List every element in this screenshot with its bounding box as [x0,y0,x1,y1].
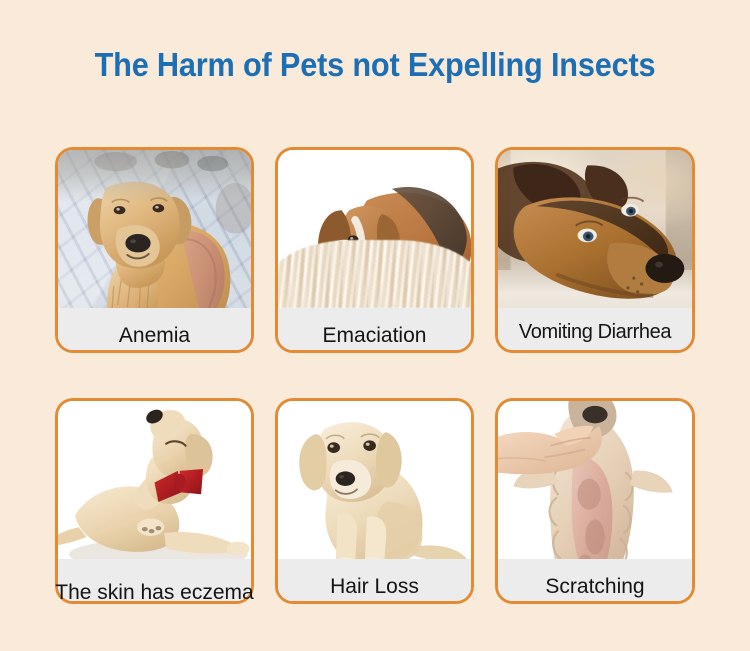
symptom-card-eczema[interactable]: The skin has eczema [55,398,254,604]
card-label-vomiting-diarrhea: Vomiting Diarrhea [492,321,698,344]
card-label-scratching: Scratching [492,575,698,598]
card-label-anemia: Anemia [52,324,257,347]
card-label-hair-loss: Hair Loss [272,575,477,598]
page-title: The Harm of Pets not Expelling Insects [26,46,724,84]
symptom-card-anemia[interactable]: Anemia [55,147,254,353]
card-label-emaciation: Emaciation [272,324,477,347]
card-label-eczema: The skin has eczema [52,581,257,605]
symptom-card-hair-loss[interactable]: Hair Loss [275,398,474,604]
symptom-card-vomiting-diarrhea[interactable]: Vomiting Diarrhea [495,147,695,353]
symptom-card-grid: Anemia [55,147,695,604]
symptom-card-emaciation[interactable]: Emaciation [275,147,474,353]
symptom-card-scratching[interactable]: Scratching [495,398,695,604]
poster-canvas: The Harm of Pets not Expelling Insects [0,0,750,651]
rug-texture [278,240,471,308]
